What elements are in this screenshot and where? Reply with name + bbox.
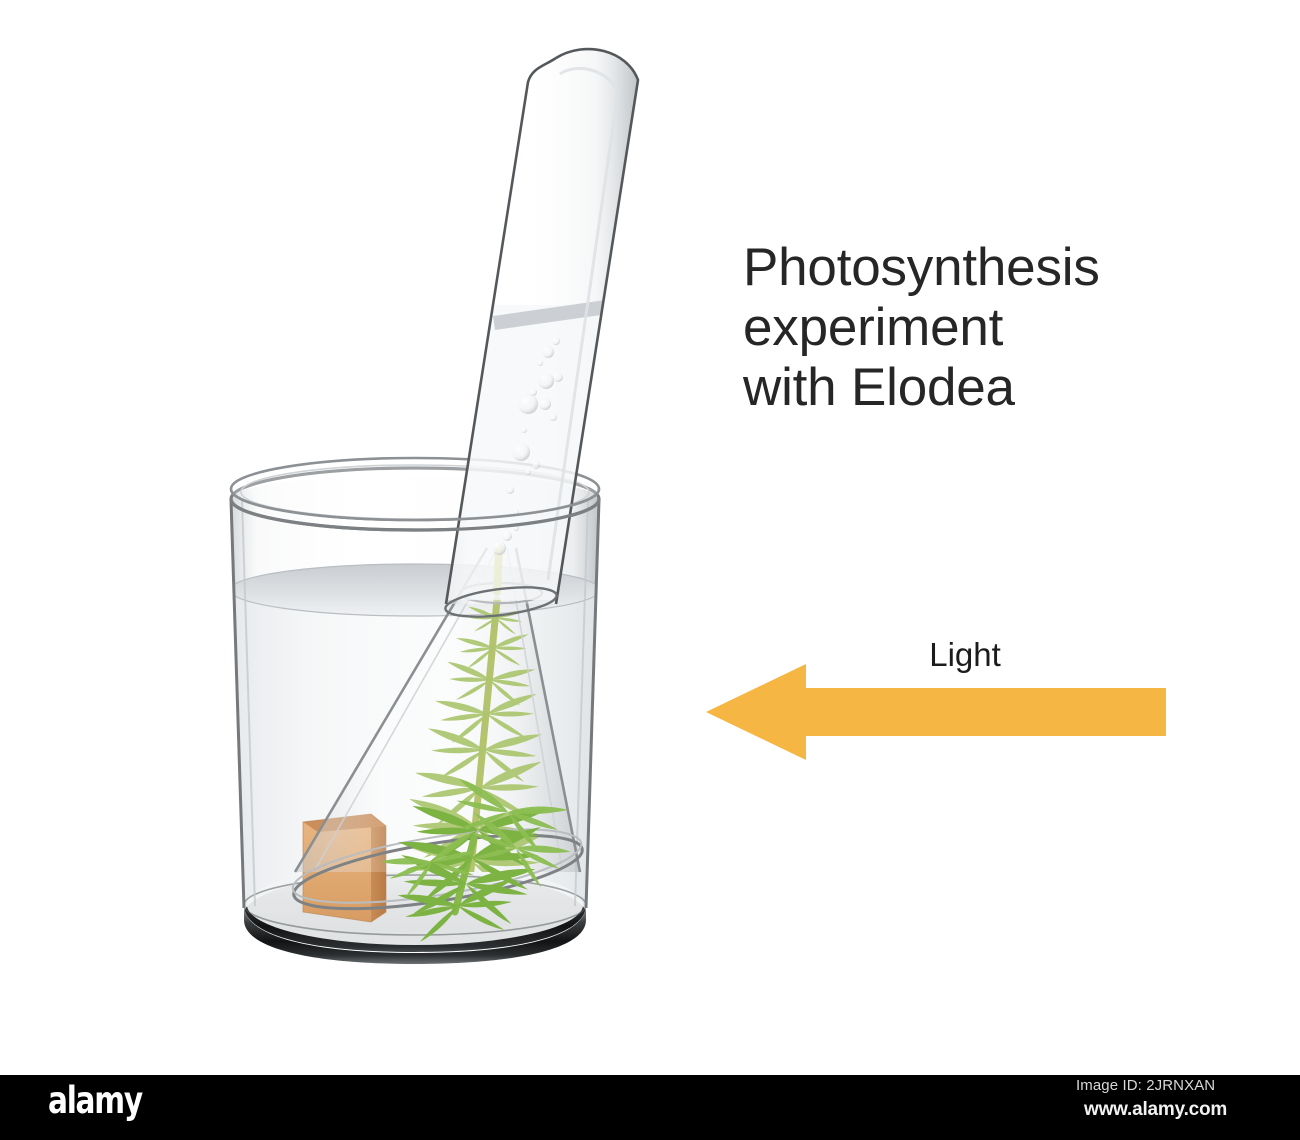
illustration-page: Photosynthesis experiment with Elodea Li… [0,0,1300,1140]
light-label: Light [855,636,1075,674]
alamy-logo: alamy [48,1079,142,1122]
alamy-url-label: www.alamy.com [1084,1099,1227,1121]
illustration-background [0,0,1300,1075]
image-id-label: Image ID: 2JRNXAN [1076,1077,1215,1094]
photosynthesis-illustration [0,0,1300,1075]
page-title: Photosynthesis experiment with Elodea [743,238,1263,418]
